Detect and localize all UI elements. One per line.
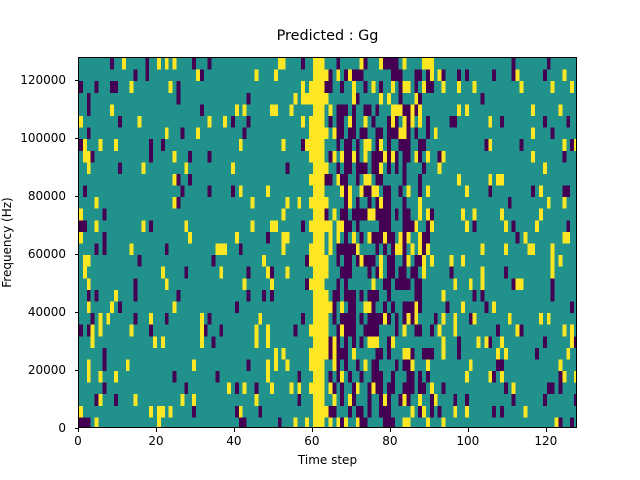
y-tick-mark xyxy=(75,370,79,371)
y-tick-label: 0 xyxy=(58,421,66,435)
x-tick-label: 120 xyxy=(534,434,557,448)
y-tick-label: 60000 xyxy=(28,247,66,261)
y-tick-mark xyxy=(75,254,79,255)
y-tick-mark xyxy=(75,196,79,197)
x-tick-mark xyxy=(78,428,79,432)
y-tick-mark xyxy=(75,80,79,81)
x-tick-label: 40 xyxy=(226,434,241,448)
x-tick-mark xyxy=(546,428,547,432)
x-tick-mark xyxy=(390,428,391,432)
x-tick-label: 20 xyxy=(148,434,163,448)
x-tick-label: 0 xyxy=(74,434,82,448)
x-axis-label: Time step xyxy=(78,453,577,467)
page-title: Predicted : Gg xyxy=(78,28,577,44)
x-tick-label: 100 xyxy=(456,434,479,448)
y-tick-mark xyxy=(75,138,79,139)
y-tick-label: 100000 xyxy=(20,131,66,145)
heatmap-image xyxy=(79,58,577,428)
x-tick-mark xyxy=(156,428,157,432)
figure-canvas: Predicted : Gg 020406080100120 020000400… xyxy=(0,0,640,480)
x-tick-label: 80 xyxy=(382,434,397,448)
x-tick-mark xyxy=(234,428,235,432)
y-tick-mark xyxy=(75,428,79,429)
x-tick-mark xyxy=(468,428,469,432)
y-tick-label: 80000 xyxy=(28,189,66,203)
y-tick-label: 20000 xyxy=(28,363,66,377)
x-tick-label: 60 xyxy=(304,434,319,448)
y-axis-label: Frequency (Hz) xyxy=(0,57,14,428)
y-tick-label: 40000 xyxy=(28,305,66,319)
y-tick-label: 120000 xyxy=(20,73,66,87)
heatmap-plot-area[interactable] xyxy=(78,57,577,428)
y-tick-mark xyxy=(75,312,79,313)
x-tick-mark xyxy=(312,428,313,432)
